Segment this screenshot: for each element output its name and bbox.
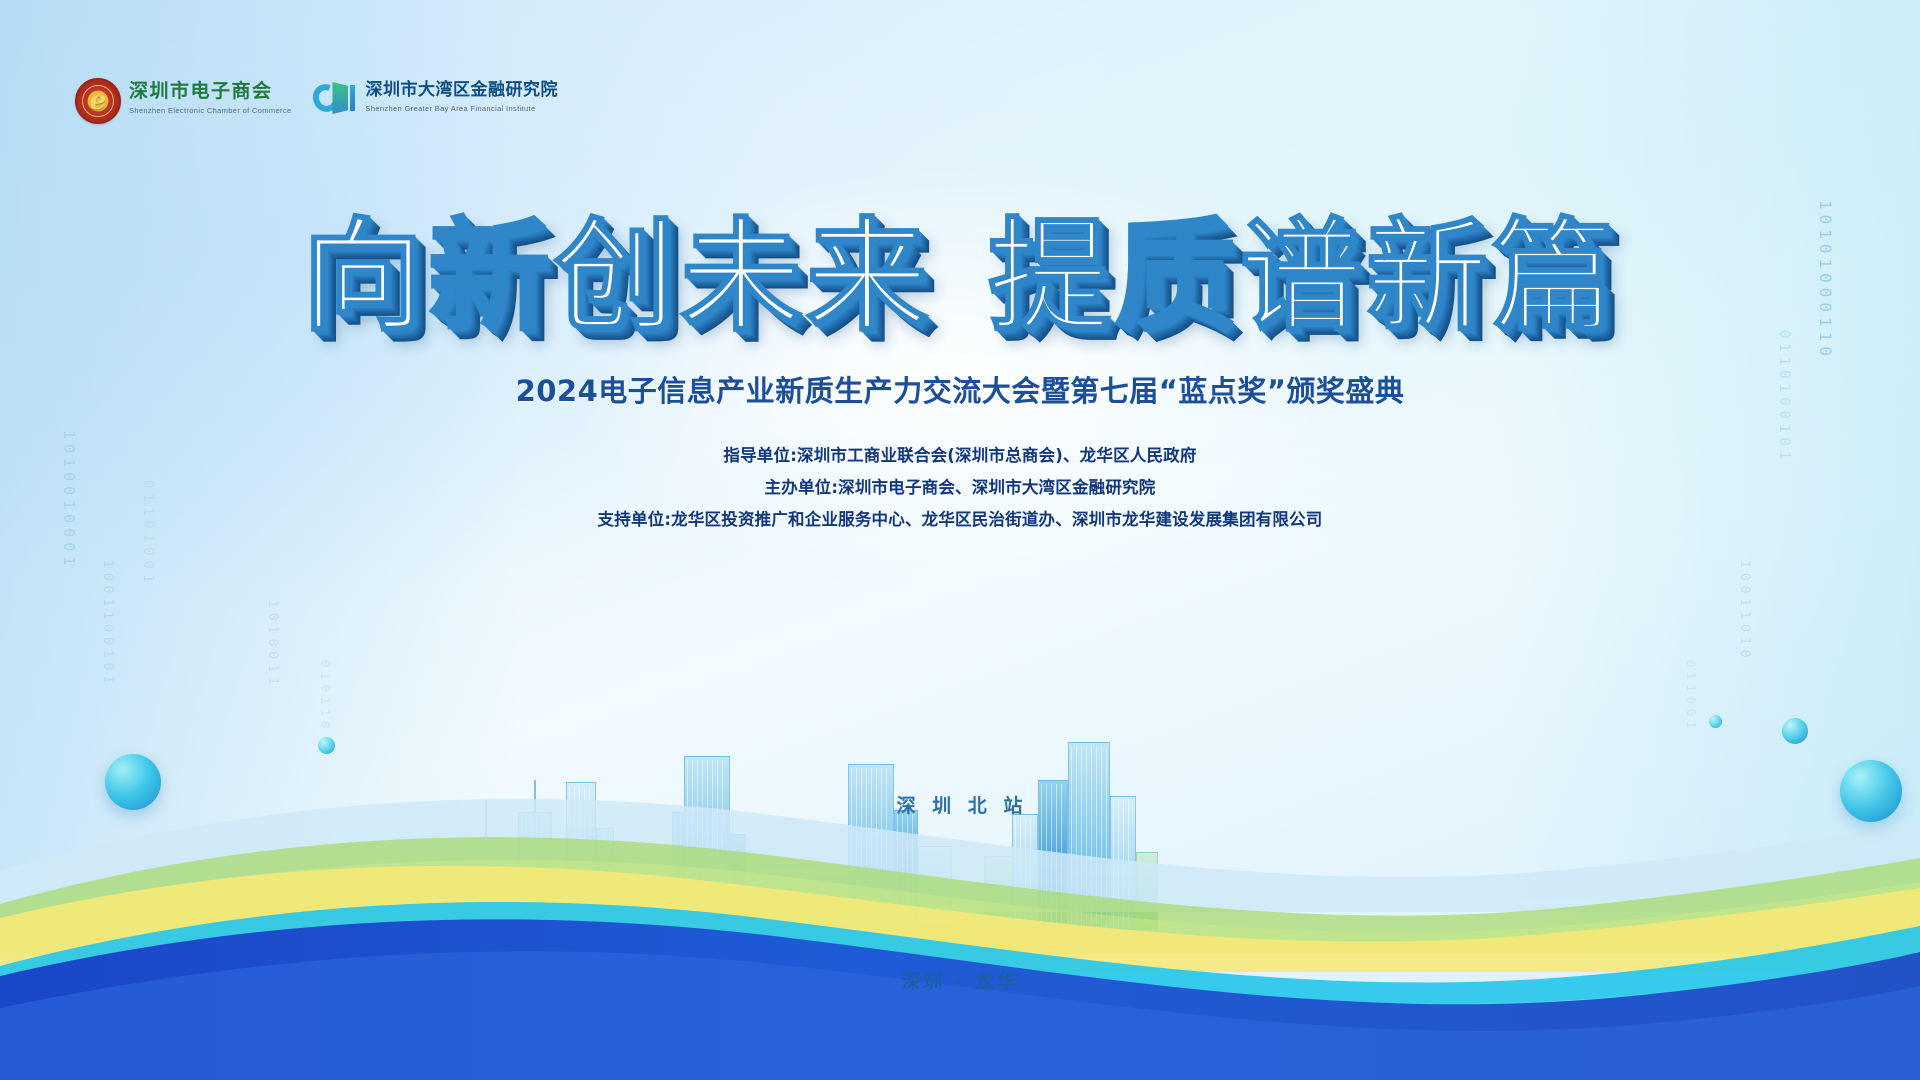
bottom-location-caption: 深圳 · 龙华 <box>0 967 1920 994</box>
decor-sphere-small-left <box>318 737 335 754</box>
poster-canvas: 1010010001 1001100101 01101001 1010011 0… <box>0 0 1920 1080</box>
title-char-6: 提 <box>988 212 1114 344</box>
decor-sphere-large-right <box>1840 760 1902 822</box>
title-char-1: 新 <box>428 212 554 344</box>
organizer-line-host: 主办单位:深圳市电子商会、深圳市大湾区金融研究院 <box>0 472 1920 504</box>
main-title: 向新创未来提质谱新篇 <box>302 212 1618 344</box>
logo-bar: 深圳市电子商会 Shenzhen Electronic Chamber of C… <box>75 78 558 124</box>
logo-shenzhen-electronic-chamber: 深圳市电子商会 Shenzhen Electronic Chamber of C… <box>75 78 291 124</box>
organizer-line-guidance: 指导单位:深圳市工商业联合会(深圳市总商会)、龙华区人民政府 <box>0 440 1920 472</box>
decor-sphere-small-right <box>1709 715 1722 728</box>
title-char-2: 创 <box>554 212 680 344</box>
decor-sphere-large-left <box>105 754 161 810</box>
title-char-4: 来 <box>806 212 932 344</box>
logo-1-cn-name: 深圳市电子商会 <box>129 81 291 103</box>
event-subtitle: 2024电子信息产业新质生产力交流大会暨第七届“蓝点奖”颁奖盛典 <box>0 368 1920 410</box>
decor-sphere-mid-right <box>1782 718 1808 744</box>
main-title-block: 向新创未来提质谱新篇 <box>0 212 1920 344</box>
title-char-3: 未 <box>680 212 806 344</box>
title-char-9: 新 <box>1366 212 1492 344</box>
title-char-0: 向 <box>302 212 428 344</box>
red-seal-icon <box>75 78 121 124</box>
logo-2-cn-name: 深圳市大湾区金融研究院 <box>365 81 558 101</box>
title-char-8: 谱 <box>1240 212 1366 344</box>
organizer-block: 指导单位:深圳市工商业联合会(深圳市总商会)、龙华区人民政府 主办单位:深圳市电… <box>0 440 1920 537</box>
logo-1-en-name: Shenzhen Electronic Chamber of Commerce <box>129 106 291 115</box>
organizer-line-support: 支持单位:龙华区投资推广和企业服务中心、龙华区民治街道办、深圳市龙华建设发展集团… <box>0 504 1920 536</box>
logo-2-en-name: Shenzhen Greater Bay Area Financial Inst… <box>365 104 558 113</box>
title-char-10: 篇 <box>1492 212 1618 344</box>
gbi-monogram-icon <box>313 82 357 116</box>
title-char-7: 质 <box>1114 212 1240 344</box>
logo-gba-financial-institute: 深圳市大湾区金融研究院 Shenzhen Greater Bay Area Fi… <box>313 78 558 116</box>
